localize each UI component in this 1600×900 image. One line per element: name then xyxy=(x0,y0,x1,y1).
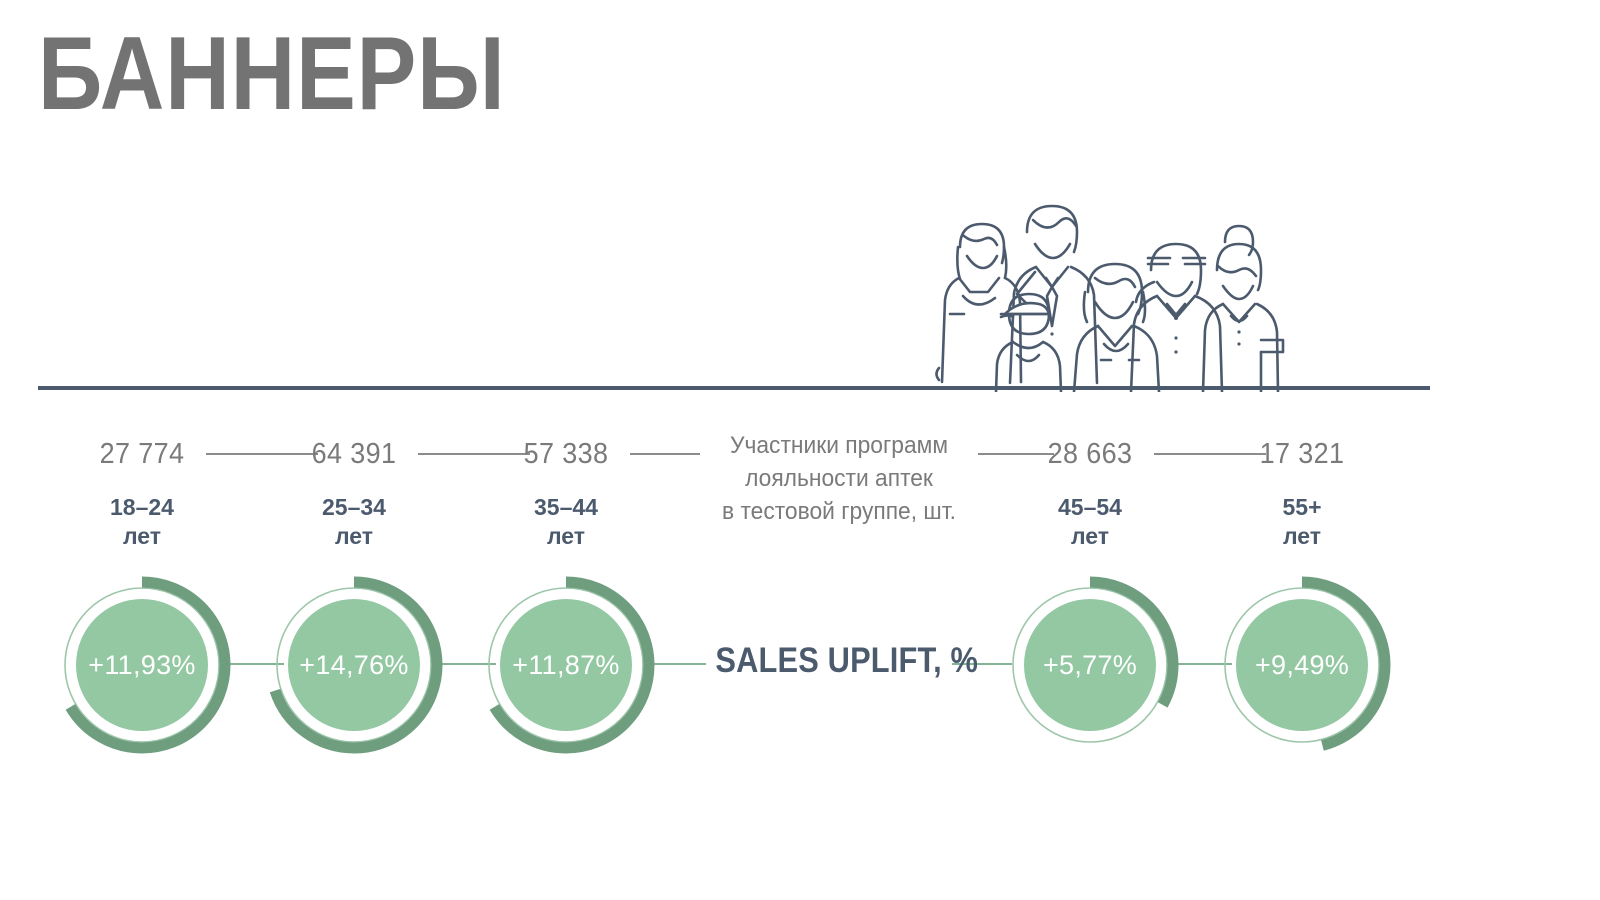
uplift-gauge-45-54[interactable]: +5,77% xyxy=(990,565,1190,765)
stats-row: 27 774 18–24 лет 64 391 25–34 лет 57 338… xyxy=(38,420,1430,560)
group-of-people-illustration xyxy=(905,192,1295,392)
uplift-gauge-55plus[interactable]: +9,49% xyxy=(1202,565,1402,765)
stat-column-35-44: 57 338 35–44 лет xyxy=(466,420,666,551)
uplift-gauge-35-44[interactable]: +11,87% xyxy=(466,565,666,765)
stat-age-label: 35–44 лет xyxy=(466,493,666,551)
stat-age-label: 25–34 лет xyxy=(254,493,454,551)
stat-age-label: 18–24 лет xyxy=(42,493,242,551)
uplift-gauges-row: +11,93% +14,76% +11,87% SALES UPLIFT, % xyxy=(0,565,1600,765)
participants-caption: Участники программ лояльности аптек в те… xyxy=(682,420,996,528)
stat-count: 64 391 xyxy=(261,420,447,469)
stat-column-18-24: 27 774 18–24 лет xyxy=(42,420,242,551)
section-divider xyxy=(38,386,1430,390)
stat-count: 28 663 xyxy=(997,420,1183,469)
stat-column-25-34: 64 391 25–34 лет xyxy=(254,420,454,551)
stat-count: 17 321 xyxy=(1209,420,1395,469)
stat-count: 57 338 xyxy=(473,420,659,469)
page-title: БАННЕРЫ xyxy=(38,18,506,130)
stat-column-45-54: 28 663 45–54 лет xyxy=(990,420,1190,551)
stat-age-label: 55+ лет xyxy=(1202,493,1402,551)
stat-count: 27 774 xyxy=(49,420,235,469)
uplift-gauge-18-24[interactable]: +11,93% xyxy=(42,565,242,765)
stat-age-label: 45–54 лет xyxy=(990,493,1190,551)
slide-root: БАННЕРЫ xyxy=(0,0,1600,900)
stat-column-55plus: 17 321 55+ лет xyxy=(1202,420,1402,551)
sales-uplift-label: SALES UPLIFT, % xyxy=(715,643,940,678)
uplift-gauge-25-34[interactable]: +14,76% xyxy=(254,565,454,765)
